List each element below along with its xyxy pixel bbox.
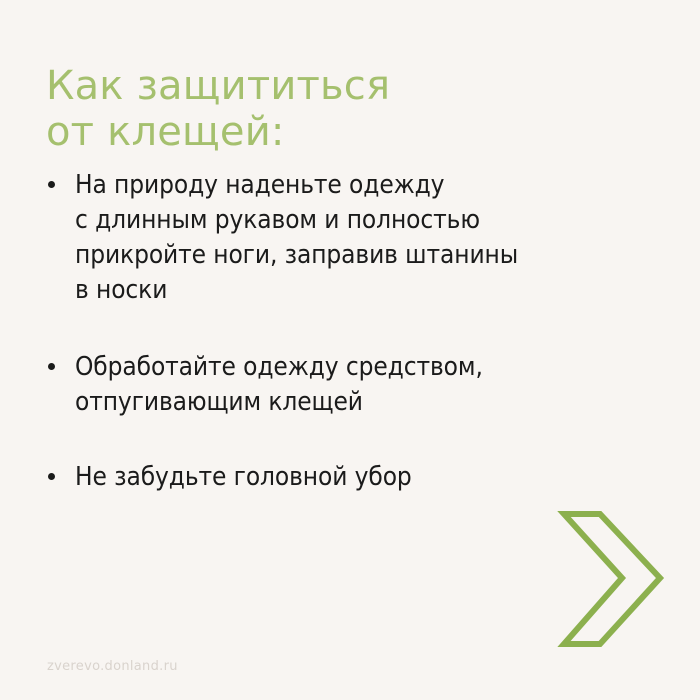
poster-canvas: Как защититься от клещей: На природу над… <box>0 0 700 700</box>
list-item-text: Обработайте одежду средством, отпугивающ… <box>75 350 676 420</box>
bullet-dot-icon <box>48 181 55 188</box>
list-item: Обработайте одежду средством, отпугивающ… <box>46 350 676 420</box>
list-item-text: Не забудьте головной убор <box>75 460 676 495</box>
double-chevron-right-icon <box>552 500 672 660</box>
watermark: zverevo.donland.ru <box>47 658 178 676</box>
page-title: Как защититься от клещей: <box>46 63 646 155</box>
list-item: Не забудьте головной убор <box>46 460 676 495</box>
bullet-dot-icon <box>48 363 55 370</box>
list-item: На природу наденьте одежду с длинным рук… <box>46 168 676 308</box>
bullet-dot-icon <box>48 473 55 480</box>
list-item-text: На природу наденьте одежду с длинным рук… <box>75 168 676 308</box>
advice-list: На природу наденьте одежду с длинным рук… <box>46 168 676 495</box>
